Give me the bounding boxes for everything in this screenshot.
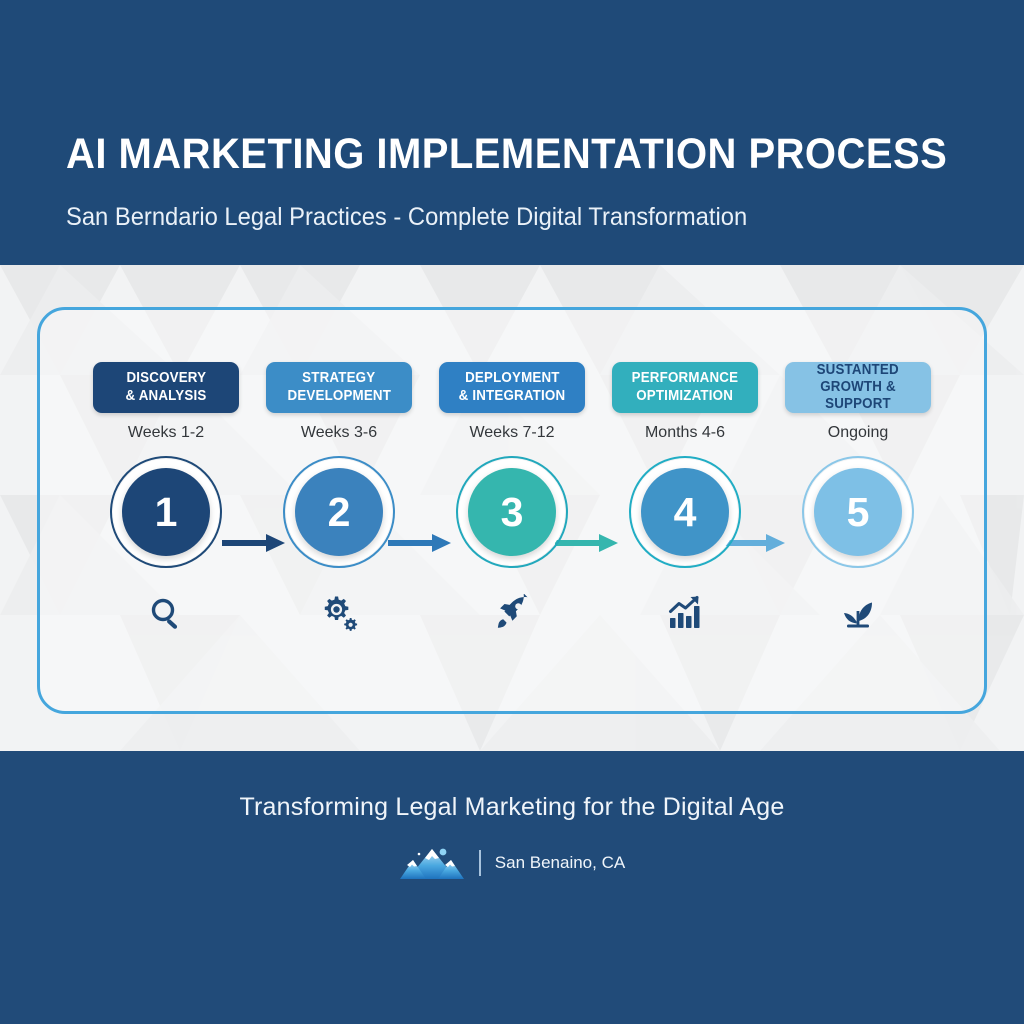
step-5-circle[interactable]: 5 — [802, 456, 914, 568]
step-3-phase-line2: & INTEGRATION — [459, 388, 566, 405]
step-3-phase-badge[interactable]: DEPLOYMENT & INTEGRATION — [439, 362, 585, 413]
step-4-duration: Months 4-6 — [645, 424, 725, 442]
step-4-phase-line1: PERFORMANCE — [632, 370, 739, 387]
step-1-duration: Weeks 1-2 — [128, 424, 204, 442]
process-step-5[interactable]: SUSTANTED GROWTH & SUPPORT Ongoing 5 — [784, 307, 932, 714]
process-step-3[interactable]: DEPLOYMENT & INTEGRATION Weeks 7-12 3 — [438, 307, 586, 714]
page-subtitle: San Berndario Legal Practices - Complete… — [66, 205, 747, 230]
step-2-phase-badge[interactable]: STRATEGY DEVELOPMENT — [266, 362, 412, 413]
footer-tagline: Transforming Legal Marketing for the Dig… — [0, 793, 1024, 822]
step-4-circle[interactable]: 4 — [629, 456, 741, 568]
process-step-4[interactable]: PERFORMANCE OPTIMIZATION Months 4-6 4 — [611, 307, 759, 714]
step-2-number: 2 — [295, 468, 383, 556]
step-1-circle[interactable]: 1 — [110, 456, 222, 568]
process-body: DISCOVERY & ANALYSIS Weeks 1-2 1 — [0, 265, 1024, 751]
process-step-2[interactable]: STRATEGY DEVELOPMENT Weeks 3-6 2 — [265, 307, 413, 714]
page-title: AI MARKETING IMPLEMENTATION PROCESS — [66, 133, 947, 176]
step-4-phase-line2: OPTIMIZATION — [637, 388, 734, 405]
growth-chart-icon — [665, 593, 705, 633]
brand-divider — [479, 850, 481, 876]
step-2-duration: Weeks 3-6 — [301, 424, 377, 442]
step-5-number: 5 — [814, 468, 902, 556]
step-2-phase-line1: STRATEGY — [302, 370, 375, 387]
step-1-phase-line1: DISCOVERY — [126, 370, 206, 387]
rocket-icon — [492, 593, 532, 633]
step-3-circle[interactable]: 3 — [456, 456, 568, 568]
process-steps: DISCOVERY & ANALYSIS Weeks 1-2 1 — [37, 307, 987, 714]
step-3-number: 3 — [468, 468, 556, 556]
step-2-circle[interactable]: 2 — [283, 456, 395, 568]
mountain-logo-icon — [399, 844, 465, 882]
infographic-canvas: AI MARKETING IMPLEMENTATION PROCESS San … — [0, 0, 1024, 1024]
step-1-phase-badge[interactable]: DISCOVERY & ANALYSIS — [93, 362, 239, 413]
magnifier-icon — [146, 593, 186, 633]
step-3-phase-line1: DEPLOYMENT — [465, 370, 559, 387]
brand-location: San Benaino, CA — [495, 853, 625, 873]
gears-icon — [319, 593, 359, 633]
step-5-duration: Ongoing — [828, 424, 889, 442]
step-2-phase-line2: DEVELOPMENT — [287, 388, 391, 405]
step-4-number: 4 — [641, 468, 729, 556]
step-3-duration: Weeks 7-12 — [469, 424, 554, 442]
process-step-1[interactable]: DISCOVERY & ANALYSIS Weeks 1-2 1 — [92, 307, 240, 714]
step-5-phase-line1: SUSTANTED — [817, 362, 899, 379]
header-banner: AI MARKETING IMPLEMENTATION PROCESS San … — [0, 0, 1024, 265]
step-5-phase-badge[interactable]: SUSTANTED GROWTH & SUPPORT — [785, 362, 931, 413]
step-1-phase-line2: & ANALYSIS — [126, 388, 207, 405]
step-1-number: 1 — [122, 468, 210, 556]
seedling-icon — [838, 593, 878, 633]
footer-banner: Transforming Legal Marketing for the Dig… — [0, 751, 1024, 1024]
footer-brand: San Benaino, CA — [0, 844, 1024, 882]
step-5-phase-line2: GROWTH & SUPPORT — [795, 379, 922, 413]
step-4-phase-badge[interactable]: PERFORMANCE OPTIMIZATION — [612, 362, 758, 413]
